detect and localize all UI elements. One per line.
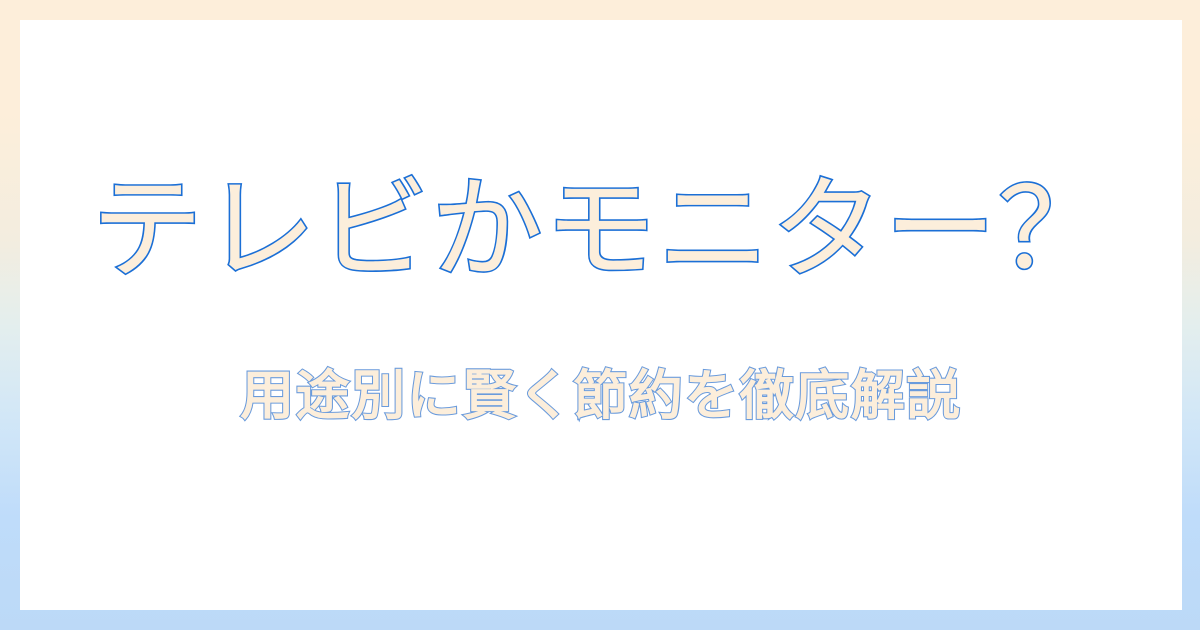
page-title: テレビかモニター？ <box>91 172 1111 288</box>
white-content-card: テレビかモニター？ 用途別に賢く節約を徹底解説 <box>20 20 1182 610</box>
banner-root: gradient-border テレビかモニター？ 用途別に賢く節約を徹底解説 <box>0 0 1200 630</box>
gradient-border: gradient-border <box>0 0 1 1</box>
page-subtitle: 用途別に賢く節約を徹底解説 <box>240 368 962 425</box>
subheadline-row: 用途別に賢く節約を徹底解説 <box>20 361 1182 431</box>
text-stage: テレビかモニター？ 用途別に賢く節約を徹底解説 <box>20 20 1182 610</box>
headline-row: テレビかモニター？ <box>20 165 1182 295</box>
